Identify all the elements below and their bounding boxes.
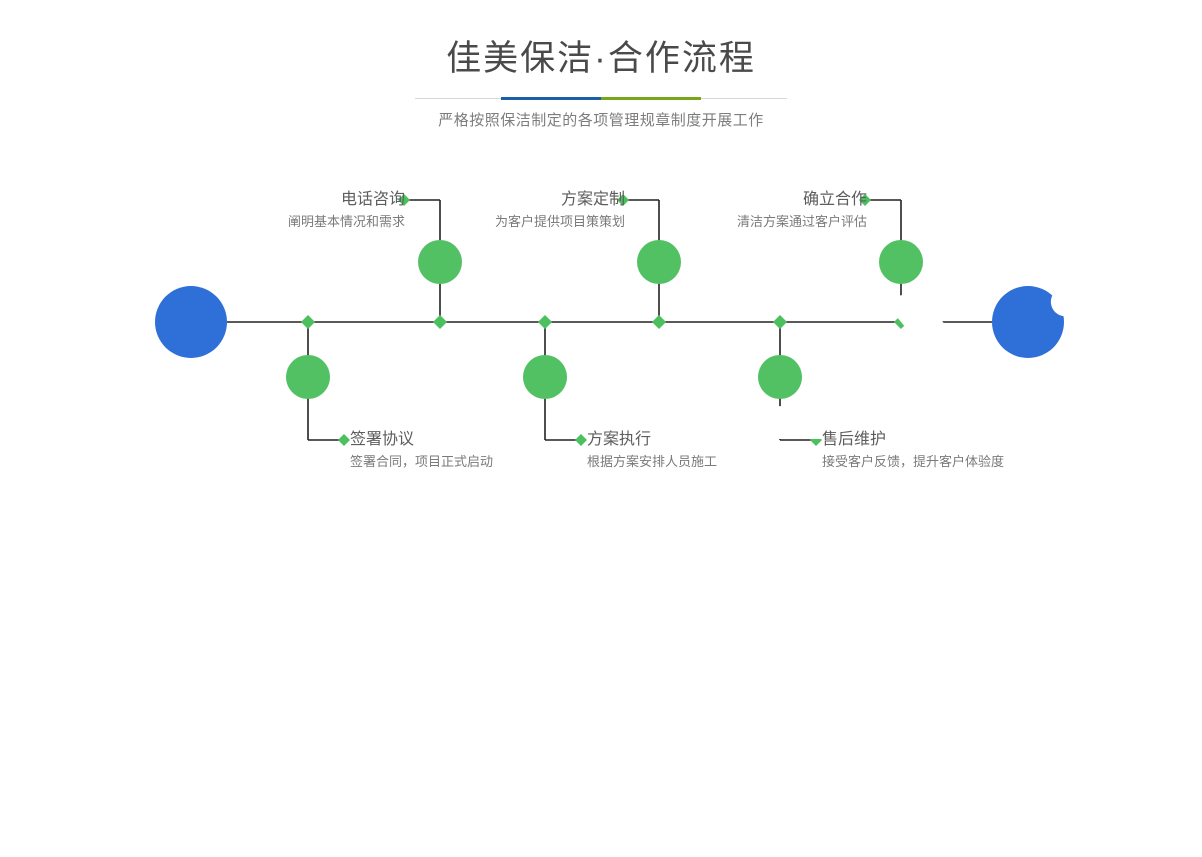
step-node-6[interactable] [758,355,802,399]
step-title-1: 电话咨询 [160,190,405,210]
step-title-6: 售后维护 [822,430,1112,450]
step-node-5[interactable] [879,240,923,284]
step-node-4[interactable] [523,355,567,399]
step-desc-3: 为客户提供项目策策划 [380,210,625,232]
step-title-5: 确立合作 [625,190,867,210]
step-label-1: 电话咨询 阐明基本情况和需求 [160,190,405,232]
process-flow-diagram: 电话咨询 阐明基本情况和需求 签署协议 签署合同，项目正式启动 方案定制 为客户… [0,0,1202,502]
step-desc-1: 阐明基本情况和需求 [160,210,405,232]
step-label-6: 售后维护 接受客户反馈，提升客户体验度 [822,430,1112,472]
step-desc-5: 清洁方案通过客户评估 [625,210,867,232]
flow-start-node[interactable] [155,286,227,358]
step-node-3[interactable] [637,240,681,284]
step-title-3: 方案定制 [380,190,625,210]
step-node-1[interactable] [418,240,462,284]
step-node-2[interactable] [286,355,330,399]
step-label-3: 方案定制 为客户提供项目策策划 [380,190,625,232]
step-desc-6: 接受客户反馈，提升客户体验度 [822,450,1112,472]
step-label-5: 确立合作 清洁方案通过客户评估 [625,190,867,232]
